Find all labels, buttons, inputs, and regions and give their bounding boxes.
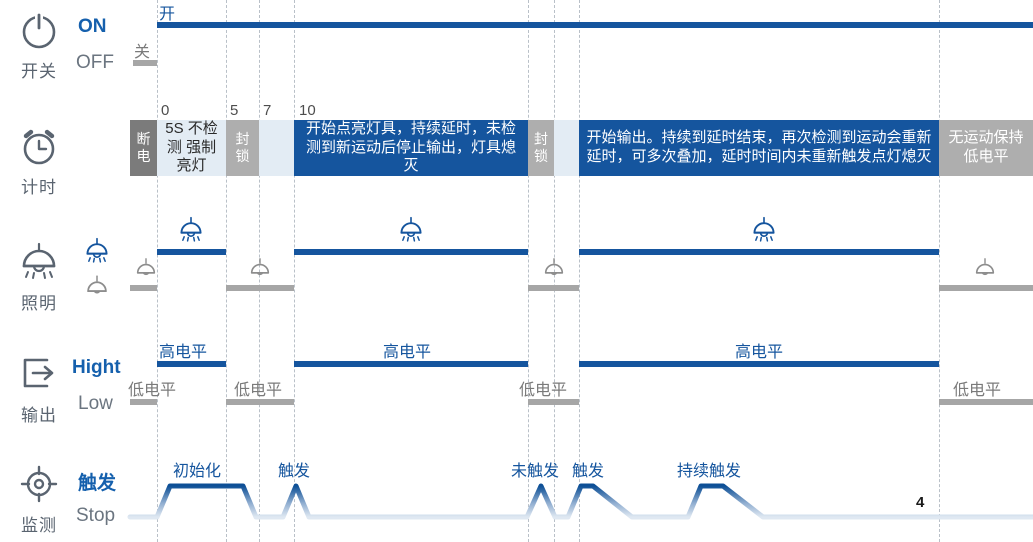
timer-segment: 断电: [130, 120, 157, 176]
power-icon: [8, 8, 70, 54]
switch-off-bar: [133, 60, 157, 66]
detection-annotation: 持续触发: [677, 457, 741, 481]
output-high-label: 高电平: [159, 338, 207, 362]
row-icon-lighting: 照明: [8, 240, 70, 314]
switch-state-on-label: ON: [78, 16, 107, 38]
axis-tick: 0: [161, 102, 169, 119]
row-icon-detection: 监测: [8, 462, 70, 536]
lamp-off-icon: [82, 272, 112, 307]
axis-tick: 10: [299, 102, 316, 119]
axis-tick: 7: [263, 102, 271, 119]
output-low-label: 低电平: [953, 376, 1001, 400]
timer-segment: 封锁: [226, 120, 259, 176]
detection-annotation: 触发: [278, 457, 310, 481]
timer-segment-label: 封锁: [226, 131, 259, 166]
lamp-off-icon: [540, 255, 568, 288]
timer-segment-label: 无运动保持低电平: [939, 129, 1033, 167]
output-high-bar: [294, 361, 528, 367]
page-number: 4: [916, 494, 924, 511]
switch-on-inline-label: 开: [159, 0, 175, 24]
output-low-label: 低电平: [519, 376, 567, 400]
row-caption-detection: 监测: [8, 511, 70, 536]
lamp-on-icon: [749, 215, 779, 250]
output-high-bar: [157, 361, 226, 367]
detection-annotation: 初始化: [173, 457, 221, 481]
timer-segment: 5S 不检测 强制亮灯: [157, 120, 226, 176]
timer-segment-label: 封锁: [528, 131, 554, 166]
timer-segment: [259, 120, 294, 176]
lamp-on-icon: [82, 236, 112, 271]
output-state-high-label: Hight: [72, 357, 121, 379]
timer-segment: 无运动保持低电平: [939, 120, 1033, 176]
row-caption-timer: 计时: [8, 173, 70, 198]
axis-tick: 5: [230, 102, 238, 119]
output-high-bar: [579, 361, 939, 367]
lamp-off-icon: [132, 255, 160, 288]
row-icon-timer: 计时: [8, 124, 70, 198]
timer-segment: 封锁: [528, 120, 554, 176]
detection-state-trigger-label: 触发: [78, 468, 116, 495]
detection-state-stop-label: Stop: [76, 505, 115, 527]
timer-segment-label: 断电: [130, 131, 157, 166]
output-state-low-label: Low: [78, 393, 113, 415]
output-low-label: 低电平: [234, 376, 282, 400]
lamp-on-icon: [396, 215, 426, 250]
lamp-off-icon: [246, 255, 274, 288]
row-caption-output: 输出: [8, 401, 70, 426]
gridline: [226, 0, 227, 542]
output-low-bar: [226, 399, 294, 405]
lamp-on-icon: [176, 215, 206, 250]
row-caption-lighting: 照明: [8, 289, 70, 314]
output-low-bar: [130, 399, 157, 405]
gridline: [939, 0, 940, 542]
detection-annotation: 触发: [572, 457, 604, 481]
alarm-clock-icon: [8, 124, 70, 170]
row-caption-switch: 开关: [8, 57, 70, 82]
switch-off-inline-label: 关: [134, 38, 150, 62]
output-high-label: 高电平: [383, 338, 431, 362]
detection-annotation: 未触发: [511, 457, 559, 481]
timer-segment: 开始输出。持续到延时结束，再次检测到运动会重新延时，可多次叠加，延时时间内未重新…: [579, 120, 939, 176]
row-icon-switch: 开关: [8, 8, 70, 82]
timer-segment: [554, 120, 579, 176]
output-low-bar: [528, 399, 579, 405]
output-arrow-icon: [8, 352, 70, 398]
target-crosshair-icon: [8, 462, 70, 508]
output-high-label: 高电平: [735, 338, 783, 362]
timer-segment: 开始点亮灯具，持续延时，未检测到新运动后停止输出，灯具熄灭: [294, 120, 528, 176]
switch-on-bar: [157, 22, 1033, 28]
timing-diagram: 开关 ON OFF 开 关 计时 0 5 7 10 断电 5S 不检测 强制亮灯…: [0, 0, 1033, 542]
switch-state-off-label: OFF: [76, 52, 114, 74]
output-low-label: 低电平: [128, 376, 176, 400]
timer-segment-label: 开始输出。持续到延时结束，再次检测到运动会重新延时，可多次叠加，延时时间内未重新…: [579, 129, 939, 167]
lamp-off-icon: [971, 255, 999, 288]
timer-segment-label: 开始点亮灯具，持续延时，未检测到新运动后停止输出，灯具熄灭: [294, 120, 528, 176]
lamp-icon: [8, 240, 70, 286]
output-low-bar: [939, 399, 1033, 405]
row-icon-output: 输出: [8, 352, 70, 426]
timer-segment-label: 5S 不检测 强制亮灯: [157, 120, 226, 176]
